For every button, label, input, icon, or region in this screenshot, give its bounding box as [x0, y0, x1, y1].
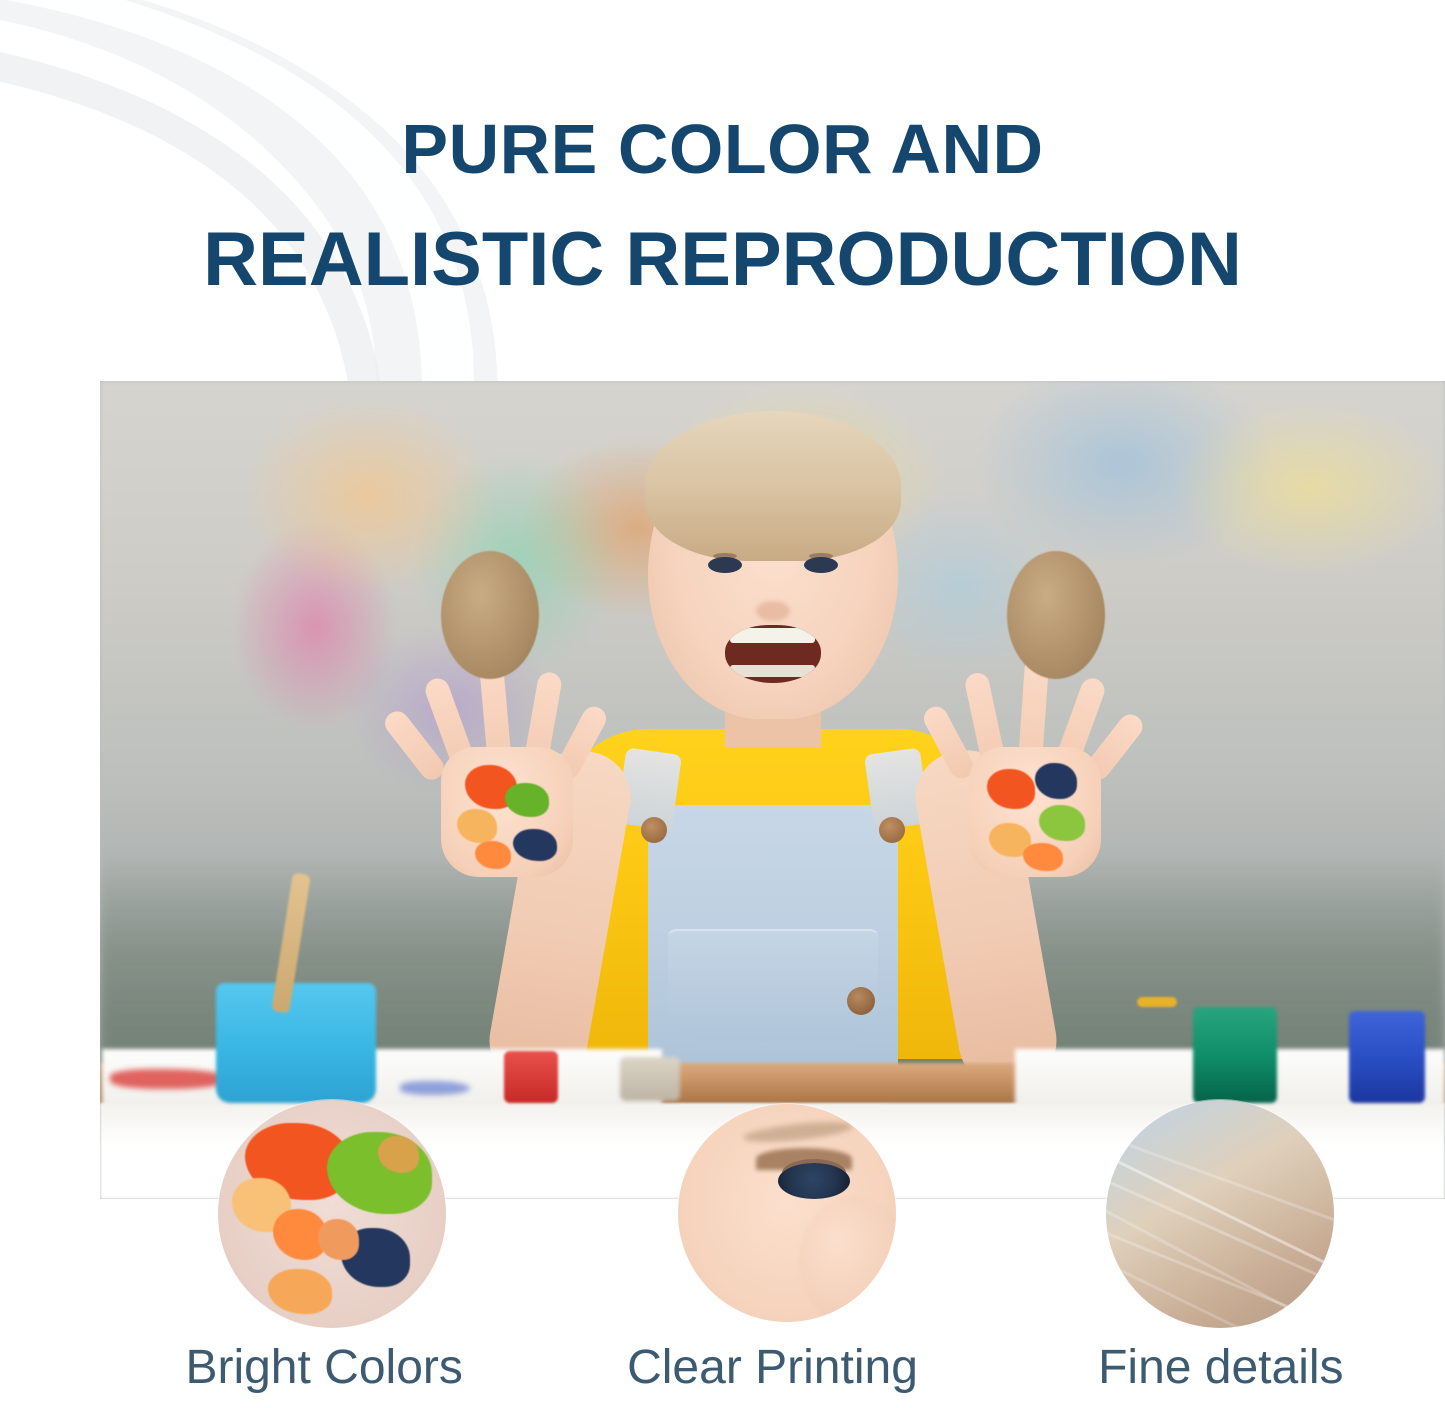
paint-jar-neutral: [620, 1057, 680, 1101]
paint-blob-navy: [513, 829, 557, 861]
headline-line-1: PURE COLOR AND: [0, 96, 1445, 202]
overalls-buckle-left: [641, 817, 667, 843]
page-title: PURE COLOR AND REALISTIC REPRODUCTION: [0, 96, 1445, 318]
pigtail-left: [441, 551, 539, 679]
paint-blob-green: [505, 783, 549, 817]
caption-fine-details: Fine details: [997, 1338, 1445, 1398]
detail-circle-clear-printing: [678, 1104, 896, 1322]
overalls-pocket: [668, 929, 878, 1041]
paint-smear-red: [110, 1069, 230, 1089]
detail-circle-fine-details: [1106, 1100, 1334, 1328]
caption-clear-printing: Clear Printing: [548, 1338, 996, 1398]
eyebrow: [743, 1118, 854, 1145]
painted-hand-left: [419, 667, 599, 877]
caption-bright-colors: Bright Colors: [100, 1338, 548, 1398]
detail-captions: Bright Colors Clear Printing Fine detail…: [100, 1338, 1445, 1398]
paint-blob-navy: [1035, 763, 1077, 799]
blue-water-cup: [216, 983, 376, 1103]
hero-photo: [100, 381, 1445, 1199]
eye-iris: [778, 1163, 850, 1199]
paint-blob-green: [1039, 805, 1085, 841]
paint-blob-amber: [457, 809, 497, 843]
eye-right: [804, 557, 838, 573]
nose: [756, 601, 790, 621]
detail-circle-bright-colors: [218, 1100, 446, 1328]
paint-smear-blue: [400, 1081, 470, 1095]
hair-strand: [1106, 1150, 1334, 1273]
red-paint-jar: [504, 1051, 558, 1103]
teeth-upper: [730, 628, 814, 643]
yellow-marker: [1137, 997, 1177, 1007]
face: [648, 419, 898, 719]
painted-hand-right: [947, 667, 1127, 877]
overalls-buckle-right: [879, 817, 905, 843]
green-paint-jar: [1193, 1007, 1277, 1103]
palm: [441, 747, 573, 877]
paint-blob-orange: [987, 769, 1035, 809]
paint-blob-peach: [318, 1219, 359, 1260]
nose-bridge: [799, 1196, 896, 1322]
teeth-lower: [730, 665, 814, 677]
headline-line-2: REALISTIC REPRODUCTION: [0, 202, 1445, 318]
promo-banner: PURE COLOR AND REALISTIC REPRODUCTION: [0, 0, 1445, 1408]
pigtail-right: [1007, 551, 1105, 679]
palm: [969, 747, 1101, 877]
paint-blob-orange: [1023, 843, 1063, 871]
eye-left: [708, 557, 742, 573]
blue-paint-jar: [1349, 1011, 1425, 1103]
hair: [645, 411, 901, 561]
paint-blob-orange: [475, 841, 511, 869]
paint-blob-amber: [268, 1269, 332, 1315]
mouth: [725, 625, 821, 683]
